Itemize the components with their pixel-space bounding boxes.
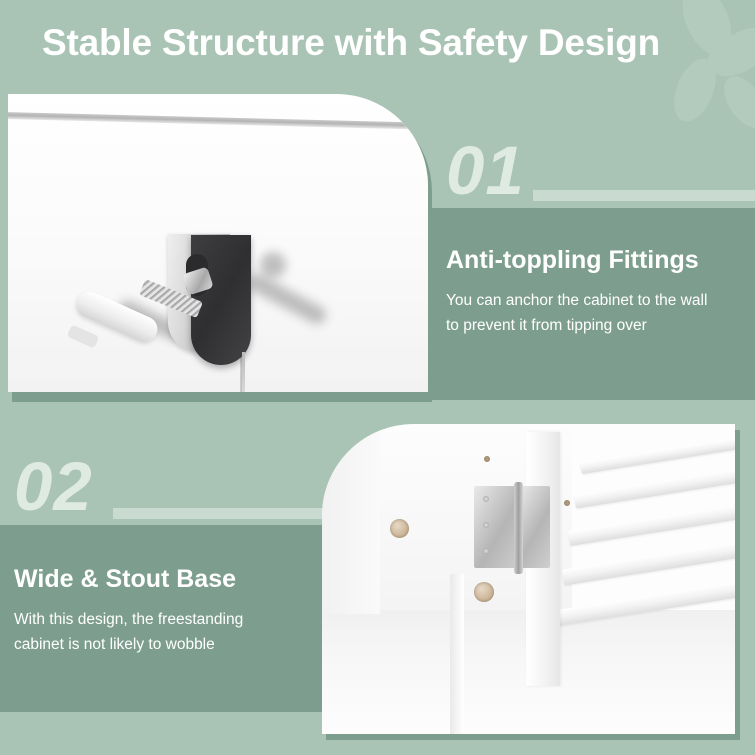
cabinet-side-panel [322, 424, 380, 614]
hinge-leaf-right [520, 486, 550, 568]
feature-2-body-line-1: With this design, the freestanding [14, 607, 243, 632]
louver-slat [562, 542, 735, 585]
screw-hole [484, 456, 490, 462]
feature-2-heading: Wide & Stout Base [14, 565, 236, 594]
feature-2-rule [113, 508, 322, 519]
cam-lock-hole [390, 519, 409, 538]
page-title: Stable Structure with Safety Design [42, 22, 660, 64]
feature-1-rule [533, 190, 755, 201]
bracket-drop-line [242, 352, 245, 392]
feature-1-body-line-2: to prevent it from tipping over [446, 313, 707, 338]
feature-1-text-panel: Anti-toppling Fittings You can anchor th… [432, 208, 755, 400]
feature-2-body-line-2: cabinet is not likely to wobble [14, 632, 243, 657]
feature-1-heading: Anti-toppling Fittings [446, 246, 699, 275]
bracket-shadow-blob [260, 252, 286, 278]
feature-1-body: You can anchor the cabinet to the wall t… [446, 288, 707, 338]
feature-1-image [8, 94, 428, 392]
cabinet-front-edge [450, 574, 464, 734]
louver-slat [568, 505, 735, 546]
feature-1-body-line-1: You can anchor the cabinet to the wall [446, 288, 707, 313]
louver-slat [574, 469, 735, 508]
header-band: Stable Structure with Safety Design [0, 0, 755, 94]
hinge-screw [483, 548, 489, 554]
feature-2-number: 02 [14, 452, 93, 521]
screw-hole [564, 500, 570, 506]
feature-2-body: With this design, the freestanding cabin… [14, 607, 243, 657]
feature-1-number: 01 [446, 136, 525, 205]
cam-lock-hole [474, 582, 494, 602]
product-feature-infographic: Stable Structure with Safety Design 0 [0, 0, 755, 755]
feature-2-text-panel: Wide & Stout Base With this design, the … [0, 525, 322, 712]
hinge-pin [514, 482, 523, 574]
hinge-screw [483, 522, 489, 528]
hinge-screw [483, 496, 489, 502]
feature-2-image [322, 424, 735, 734]
louver-slat [580, 438, 735, 474]
